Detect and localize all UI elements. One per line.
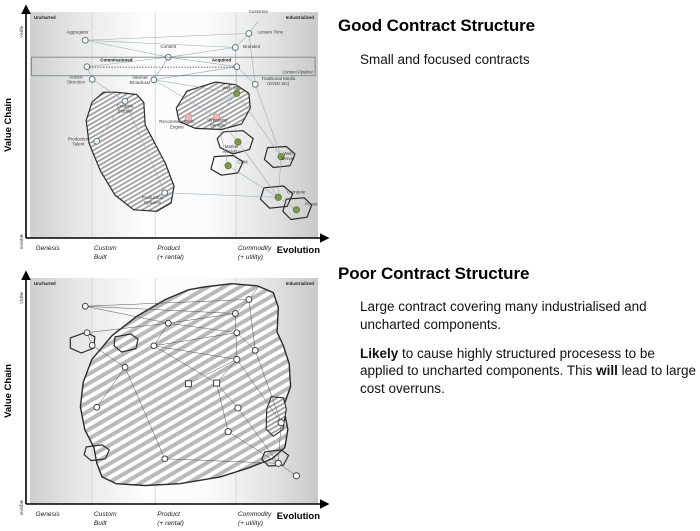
- map-node-artistic[interactable]: [89, 76, 95, 82]
- map-node-content[interactable]: [165, 320, 171, 326]
- poor-contract-para-2: Likely to cause highly structured proces…: [360, 345, 696, 398]
- x-tick-sublabel: (+ utility): [238, 254, 263, 261]
- map-node-crm[interactable]: [225, 429, 231, 435]
- x-tick-label: Commodity: [238, 511, 272, 518]
- x-tick-label: Product: [157, 245, 181, 252]
- node-label-acquired: Acquired: [212, 57, 232, 62]
- map-node-internet[interactable]: [151, 77, 157, 83]
- map-node-artistic[interactable]: [89, 342, 95, 348]
- node-label-market: Analytics: [223, 149, 242, 154]
- map-node-branded[interactable]: [232, 311, 238, 317]
- y-axis-top-label: Visible: [19, 25, 24, 38]
- map-node-streaming[interactable]: [214, 380, 220, 386]
- node-label-branded: Branded: [243, 44, 261, 49]
- node-label-webserver: Server: [281, 156, 295, 161]
- node-label-customer: Customer: [249, 9, 269, 14]
- x-tick-label: Genesis: [35, 245, 60, 252]
- map-node-market[interactable]: [235, 405, 241, 411]
- map-node-commissioned[interactable]: [84, 64, 90, 70]
- map-node-branded[interactable]: [232, 45, 238, 51]
- map-node-traditional[interactable]: [252, 347, 258, 353]
- map-node-prodsys[interactable]: [162, 456, 168, 462]
- node-label-power: Power: [305, 202, 318, 207]
- y-axis-bottom-label: Invisible: [19, 499, 24, 515]
- node-label-artistic: Direction: [67, 80, 85, 85]
- node-label-internet: Broadcast: [130, 80, 151, 85]
- map-node-power[interactable]: [293, 473, 299, 479]
- poor-contract-bold-likely: Likely: [360, 346, 398, 361]
- node-label-traditional: (DVDs etc): [267, 81, 290, 86]
- node-label-compute: Compute: [287, 189, 306, 194]
- good-contract-title: Good Contract Structure: [338, 16, 694, 36]
- map-node-prodtalent[interactable]: [94, 138, 100, 144]
- node-label-creative: Studios: [118, 108, 134, 113]
- map-node-leisure[interactable]: [246, 31, 252, 37]
- poor-contract-body: Large contract covering many industriali…: [360, 298, 696, 398]
- x-axis-title: Evolution: [277, 511, 320, 522]
- good-contract-panel: Good Contract Structure Small and focuse…: [338, 16, 694, 69]
- map-node-aggregator[interactable]: [82, 303, 88, 309]
- x-axis-title: Evolution: [277, 245, 320, 256]
- poor-contract-panel: Poor Contract Structure Large contract c…: [338, 264, 696, 398]
- slide-canvas: CustomerLeisure TimeAggregatorBrandedCon…: [0, 0, 700, 531]
- wardley-map-poor: UnchartedIndustrializedValue ChainVisibl…: [0, 266, 338, 528]
- node-label-website: Web Site: [223, 85, 242, 90]
- map-node-commissioned[interactable]: [84, 330, 90, 336]
- node-label-aggregator: Aggregator: [66, 29, 89, 34]
- x-tick-sublabel: (+ rental): [157, 254, 184, 261]
- x-tick-label: Genesis: [35, 511, 60, 518]
- x-tick-sublabel: Built: [94, 520, 108, 527]
- map-node-leisure[interactable]: [246, 297, 252, 303]
- y-axis-bottom-label: Invisible: [19, 233, 24, 249]
- map-node-compute[interactable]: [275, 460, 281, 466]
- corner-label-industrialized: Industrialized: [286, 281, 315, 286]
- map-node-aggregator[interactable]: [82, 37, 88, 43]
- x-tick-sublabel: (+ rental): [157, 520, 184, 527]
- node-label-prodsys: Systems: [144, 200, 162, 205]
- poor-contract-bold-will: will: [596, 363, 618, 378]
- y-axis-title: Value Chain: [3, 98, 14, 152]
- x-tick-label: Custom: [94, 511, 117, 518]
- wardley-map-good: CustomerLeisure TimeAggregatorBrandedCon…: [0, 0, 338, 262]
- node-label-recommend: Engine: [170, 124, 185, 129]
- corner-label-industrialized: Industrialized: [286, 15, 315, 20]
- map-node-internet[interactable]: [151, 343, 157, 349]
- map-node-compute[interactable]: [275, 194, 281, 200]
- node-label-prodtalent: Talent: [72, 141, 85, 146]
- x-tick-label: Commodity: [238, 245, 272, 252]
- map-node-traditional[interactable]: [252, 81, 258, 87]
- map-node-website[interactable]: [234, 90, 240, 96]
- x-tick-sublabel: (+ utility): [238, 520, 263, 527]
- poor-contract-title: Poor Contract Structure: [338, 264, 696, 284]
- x-tick-label: Custom: [94, 245, 117, 252]
- y-axis-title: Value Chain: [3, 364, 14, 418]
- node-label-commissioned: Commissioned: [100, 57, 133, 62]
- map-node-recommend[interactable]: [185, 381, 191, 387]
- good-contract-text: Small and focused contracts: [360, 51, 694, 69]
- map-node-acquired[interactable]: [234, 64, 240, 70]
- map-node-prodtalent[interactable]: [94, 404, 100, 410]
- map-node-website[interactable]: [234, 356, 240, 362]
- map-node-power[interactable]: [293, 207, 299, 213]
- map-node-acquired[interactable]: [234, 330, 240, 336]
- x-tick-label: Product: [157, 511, 181, 518]
- y-axis-top-label: Visible: [19, 291, 24, 304]
- map-node-creative[interactable]: [122, 364, 128, 370]
- good-contract-body: Small and focused contracts: [360, 51, 694, 69]
- node-label-leisure: Leisure Time: [258, 29, 284, 34]
- poor-contract-para-1: Large contract covering many industriali…: [360, 298, 696, 334]
- content-pipeline-label: Content Pipeline: [282, 70, 313, 75]
- poor-contract-map: UnchartedIndustrializedValue ChainVisibl…: [0, 266, 338, 528]
- x-tick-sublabel: Built: [94, 254, 108, 261]
- map-node-webserver[interactable]: [278, 420, 284, 426]
- good-contract-map: CustomerLeisure TimeAggregatorBrandedCon…: [0, 0, 338, 262]
- node-label-content: Content: [160, 44, 177, 49]
- corner-label-uncharted: Uncharted: [34, 15, 56, 20]
- corner-label-uncharted: Uncharted: [34, 281, 56, 286]
- map-node-crm[interactable]: [225, 163, 231, 169]
- paragraph-spacer: [360, 334, 696, 345]
- node-label-crm: CRM: [237, 159, 247, 164]
- node-label-streaming: Service: [210, 123, 226, 128]
